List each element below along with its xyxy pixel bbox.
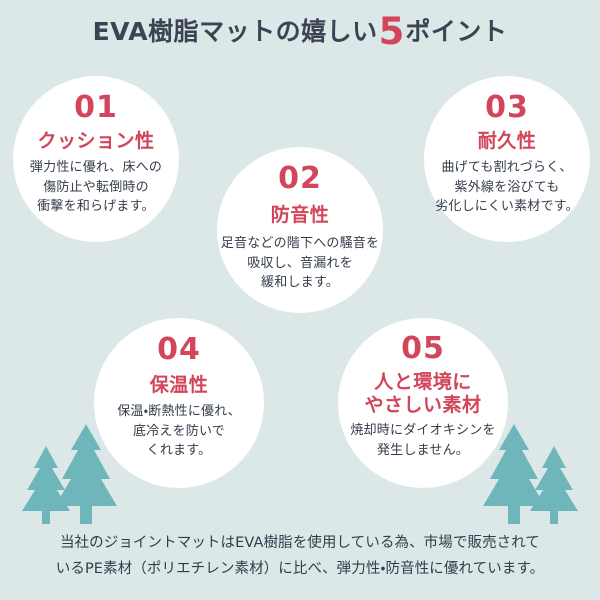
point-description-05: 焼却時にダイオキシンを 発生しません。: [350, 421, 495, 460]
point-title-02: 防音性: [271, 204, 330, 227]
point-circle-03: 03 耐久性 曲げても割れづらく、 紫外線を浴びても 劣化しにくい素材です。: [424, 76, 590, 242]
point-circle-02: 02 防音性 足音などの階下への騒音を 吸収し、音漏れを 緩和します。: [217, 147, 383, 313]
point-number-05: 05: [401, 334, 445, 364]
page-title-prefix: EVA樹脂マットの嬉しい: [93, 19, 378, 44]
page-title-suffix: ポイント: [405, 19, 507, 44]
point-circle-01: 01 クッション性 弾力性に優れ、床への 傷防止や転倒時の 衝撃を和らげます。: [13, 76, 179, 242]
point-description-03: 曲げても割れづらく、 紫外線を浴びても 劣化しにくい素材です。: [435, 158, 579, 217]
point-title-03: 耐久性: [478, 130, 537, 153]
point-number-03: 03: [485, 93, 529, 123]
point-title-04: 保温性: [150, 374, 209, 397]
point-title-01: クッション性: [37, 130, 154, 153]
point-number-02: 02: [278, 164, 322, 194]
point-description-02: 足音などの階下への騒音を 吸収し、音漏れを 緩和します。: [221, 234, 379, 293]
page-title: EVA樹脂マットの嬉しい5ポイント: [0, 0, 600, 62]
point-description-04: 保温・断熱性に優れ、 底冷えを防いで くれます。: [117, 402, 241, 461]
point-number-01: 01: [74, 93, 118, 123]
point-number-04: 04: [157, 335, 201, 365]
page-title-highlight-number: 5: [379, 13, 405, 50]
point-description-01: 弾力性に優れ、床への 傷防止や転倒時の 衝撃を和らげます。: [30, 158, 162, 217]
footer-note: 当社のジョイントマットはEVA樹脂を使用している為、市場で販売されて いるPE素…: [0, 531, 600, 582]
point-title-05: 人と環境に やさしい素材: [364, 371, 481, 417]
point-circle-05: 05 人と環境に やさしい素材 焼却時にダイオキシンを 発生しません。: [338, 318, 508, 488]
infographic-root: EVA樹脂マットの嬉しい5ポイント 01 ク: [0, 0, 600, 600]
point-circle-04: 04 保温性 保温・断熱性に優れ、 底冷えを防いで くれます。: [94, 318, 264, 488]
